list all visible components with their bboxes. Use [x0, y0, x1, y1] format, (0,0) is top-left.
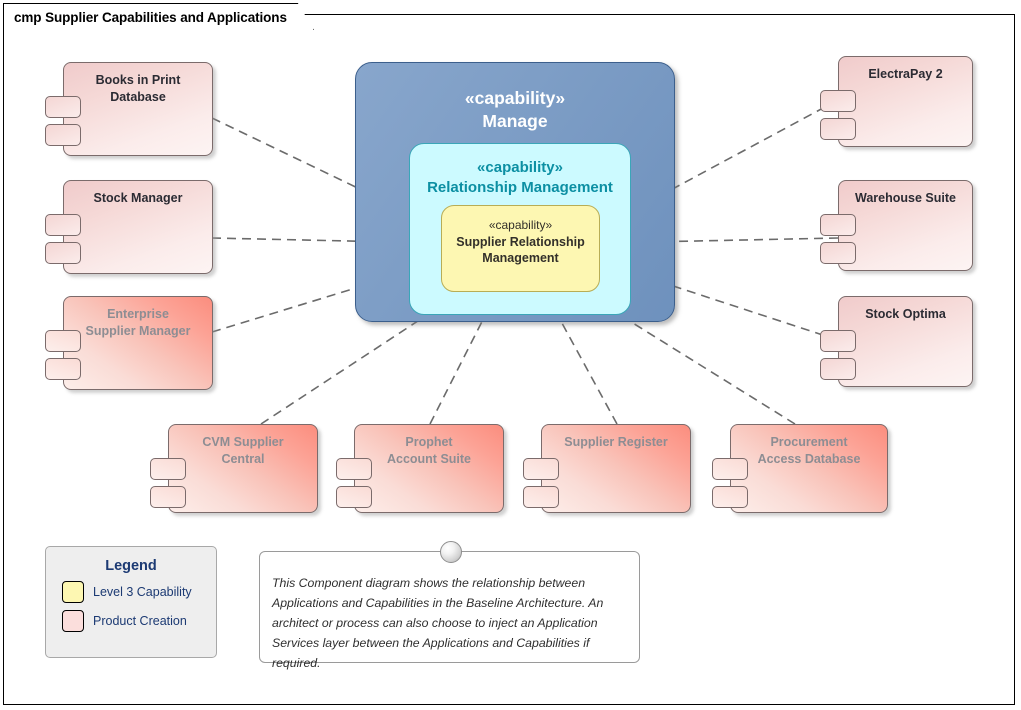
component-port-tab-lower [336, 486, 372, 508]
legend-item-product-creation: Product Creation [62, 610, 216, 632]
legend-item-level-3-capability: Level 3 Capability [62, 581, 216, 603]
component-label-line2: Supplier Manager [71, 323, 205, 340]
component-label: Warehouse Suite [846, 190, 965, 207]
component-warehouse-suite[interactable]: Warehouse Suite [820, 180, 973, 271]
legend-swatch-product-creation [62, 610, 84, 632]
component-port-tab-upper [45, 214, 81, 236]
component-label-line1: ElectraPay 2 [846, 66, 965, 83]
component-label: Supplier Register [549, 434, 683, 451]
diagram-title: cmp Supplier Capabilities and Applicatio… [14, 10, 287, 25]
frame-tab-mask [4, 28, 266, 32]
component-label-line2: Account Suite [362, 451, 496, 468]
component-enterprise-supplier-manager[interactable]: Enterprise Supplier Manager [45, 296, 213, 390]
component-prophet-account-suite[interactable]: Prophet Account Suite [336, 424, 504, 513]
component-label-line1: CVM Supplier [176, 434, 310, 451]
component-electrapay-2[interactable]: ElectraPay 2 [820, 56, 973, 147]
component-port-tab-upper [45, 96, 81, 118]
component-label: Books in Print Database [71, 72, 205, 105]
component-label-line1: Stock Manager [71, 190, 205, 207]
legend-swatch-level-3-capability [62, 581, 84, 603]
component-port-tab-upper [523, 458, 559, 480]
component-supplier-register[interactable]: Supplier Register [523, 424, 691, 513]
diagram-note[interactable]: This Component diagram shows the relatio… [259, 551, 640, 663]
component-port-tab-lower [712, 486, 748, 508]
capability-supplier-relationship-management[interactable]: «capability» Supplier Relationship Manag… [441, 205, 600, 292]
component-port-tab-lower [523, 486, 559, 508]
component-label-line1: Procurement [738, 434, 880, 451]
capability-supplier-relationship-management-label: «capability» Supplier Relationship Manag… [442, 218, 599, 266]
capability-manage-label: «capability» Manage [356, 87, 674, 133]
component-procurement-access-database[interactable]: Procurement Access Database [712, 424, 888, 513]
component-label: Procurement Access Database [738, 434, 880, 467]
component-label: Stock Optima [846, 306, 965, 323]
capability-manage-name: Manage [356, 110, 674, 133]
capability-supplier-relationship-management-name-line1: Supplier Relationship [442, 234, 599, 250]
component-label-line1: Warehouse Suite [846, 190, 965, 207]
component-label-line2: Access Database [738, 451, 880, 468]
component-label: Stock Manager [71, 190, 205, 207]
component-label-line1: Prophet [362, 434, 496, 451]
note-handle-icon[interactable] [440, 541, 462, 563]
component-label-line2: Central [176, 451, 310, 468]
component-label: Prophet Account Suite [362, 434, 496, 467]
component-port-tab-upper [336, 458, 372, 480]
component-label-line2: Database [71, 89, 205, 106]
component-label: CVM Supplier Central [176, 434, 310, 467]
component-cvm-supplier-central[interactable]: CVM Supplier Central [150, 424, 318, 513]
component-port-tab-lower [45, 358, 81, 380]
component-port-tab-upper [712, 458, 748, 480]
component-port-tab-upper [820, 90, 856, 112]
component-stock-manager[interactable]: Stock Manager [45, 180, 213, 274]
component-port-tab-lower [150, 486, 186, 508]
capability-relationship-management-label: «capability» Relationship Management [410, 158, 630, 197]
component-label: Enterprise Supplier Manager [71, 306, 205, 339]
component-port-tab-lower [45, 242, 81, 264]
note-text: This Component diagram shows the relatio… [272, 574, 625, 674]
legend-label-level-3-capability: Level 3 Capability [93, 585, 192, 599]
component-label: ElectraPay 2 [846, 66, 965, 83]
capability-relationship-management-name: Relationship Management [410, 178, 630, 198]
component-label-line1: Enterprise [71, 306, 205, 323]
diagram-frame-tab: cmp Supplier Capabilities and Applicatio… [3, 3, 314, 30]
component-port-tab-upper [150, 458, 186, 480]
component-stock-optima[interactable]: Stock Optima [820, 296, 973, 387]
component-port-tab-upper [45, 330, 81, 352]
capability-supplier-relationship-management-name-line2: Management [442, 250, 599, 266]
legend-panel: Legend Level 3 Capability Product Creati… [45, 546, 217, 658]
component-port-tab-lower [820, 118, 856, 140]
component-label-line1: Stock Optima [846, 306, 965, 323]
diagram-canvas: cmp Supplier Capabilities and Applicatio… [0, 0, 1021, 710]
legend-title: Legend [46, 558, 216, 574]
capability-relationship-management-stereotype: «capability» [410, 158, 630, 178]
component-port-tab-lower [820, 242, 856, 264]
component-label-line1: Supplier Register [549, 434, 683, 451]
component-label-line1: Books in Print [71, 72, 205, 89]
component-port-tab-lower [45, 124, 81, 146]
component-books-in-print-database[interactable]: Books in Print Database [45, 62, 213, 156]
component-port-tab-upper [820, 330, 856, 352]
capability-supplier-relationship-management-stereotype: «capability» [442, 218, 599, 234]
component-port-tab-upper [820, 214, 856, 236]
component-port-tab-lower [820, 358, 856, 380]
capability-manage-stereotype: «capability» [356, 87, 674, 110]
legend-label-product-creation: Product Creation [93, 614, 187, 628]
